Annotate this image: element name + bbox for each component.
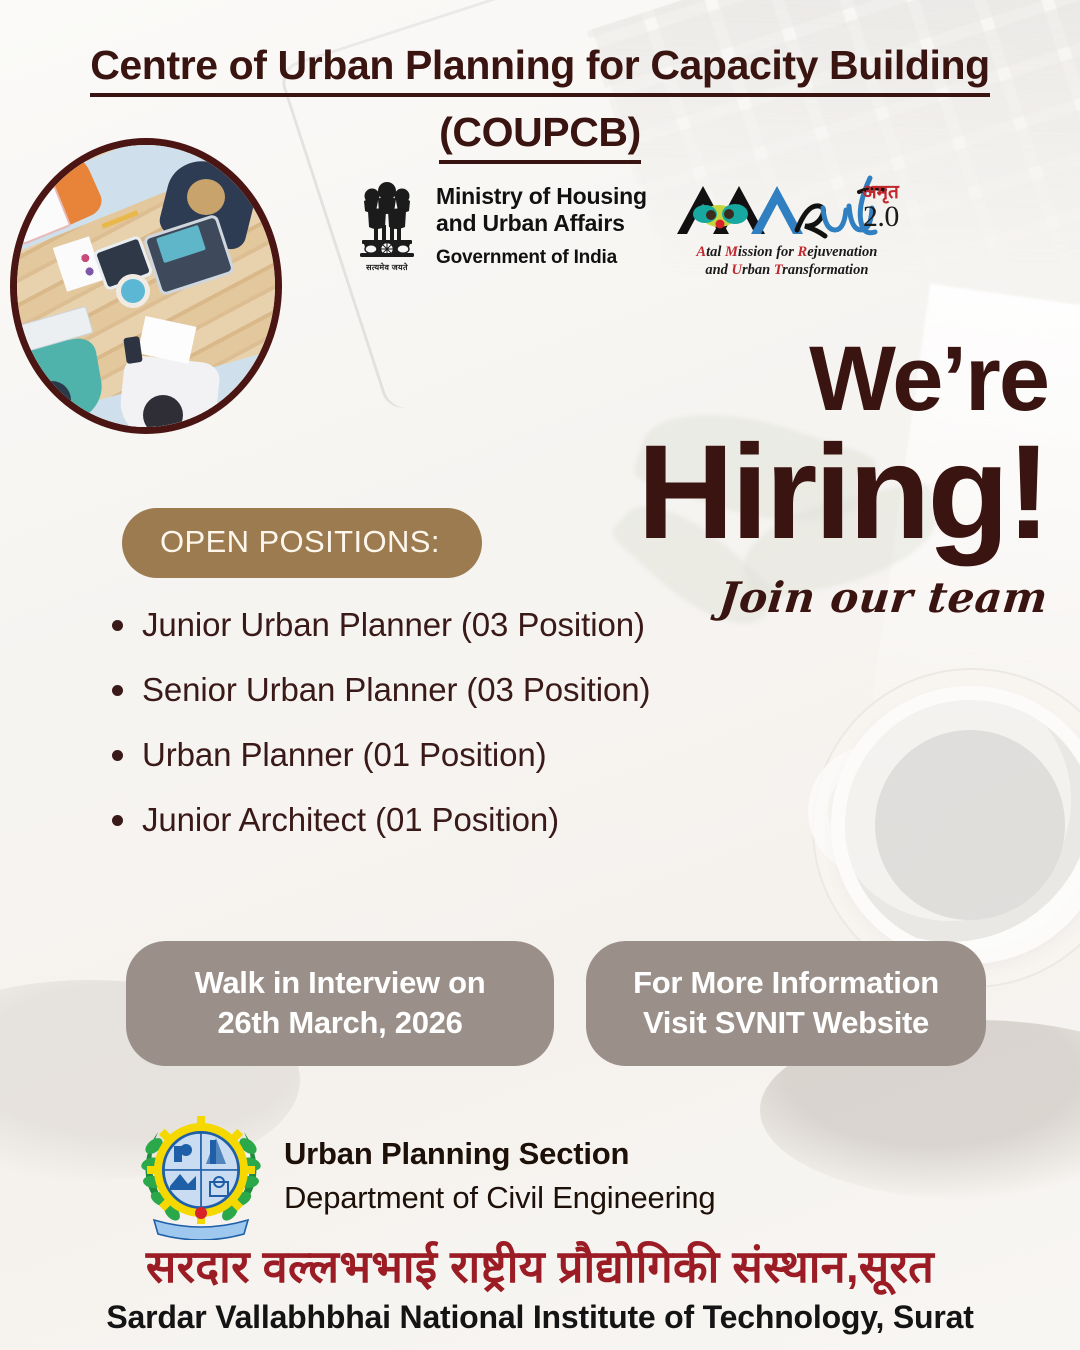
- info-pill-row: Walk in Interview on 26th March, 2026 Fo…: [126, 941, 986, 1066]
- hiring-tagline: Join our team: [635, 573, 1051, 622]
- amrut-tagline: Atal Mission for Rejuvenation and Urban …: [673, 244, 901, 280]
- interview-date-badge: Walk in Interview on 26th March, 2026: [126, 941, 554, 1066]
- ministry-logo: सत्यमेव जयते Ministry of Housing and Urb…: [350, 179, 647, 273]
- background-coffee-cup: [845, 700, 1080, 950]
- emblem-motto: सत्यमेव जयते: [350, 262, 424, 273]
- ministry-line-3: Government of India: [436, 247, 647, 269]
- institute-name-english: Sardar Vallabhbhai National Institute of…: [0, 1299, 1080, 1336]
- amrut-logo: अमृत 2.0 Atal Mission for Rejuvenation a…: [673, 172, 901, 280]
- open-positions-heading: OPEN POSITIONS:: [122, 508, 482, 578]
- svnit-crest-icon: [140, 1112, 262, 1240]
- logo-row: सत्यमेव जयते Ministry of Housing and Urb…: [350, 172, 901, 280]
- page-title: Centre of Urban Planning for Capacity Bu…: [0, 38, 1080, 164]
- hiring-line-2: Hiring!: [637, 429, 1048, 556]
- ashoka-emblem-icon: सत्यमेव जयते: [350, 179, 424, 273]
- more-information-badge: For More Information Visit SVNIT Website: [586, 941, 986, 1066]
- footer-department-name: Department of Civil Engineering: [284, 1180, 715, 1216]
- institute-banner: सरदार वल्लभभाई राष्ट्रीय प्रौद्योगिकी सं…: [0, 1242, 1080, 1337]
- amrut-version-label: 2.0: [863, 200, 899, 234]
- institute-name-hindi: सरदार वल्लभभाई राष्ट्रीय प्रौद्योगिकी सं…: [0, 1242, 1080, 1292]
- ministry-line-2: and Urban Affairs: [436, 210, 647, 237]
- ministry-line-1: Ministry of Housing: [436, 183, 647, 210]
- list-item: Senior Urban Planner (03 Position): [104, 673, 650, 706]
- footer-section-name: Urban Planning Section: [284, 1136, 715, 1172]
- list-item: Urban Planner (01 Position): [104, 738, 650, 771]
- footer-organisation: Urban Planning Section Department of Civ…: [140, 1112, 715, 1240]
- title-line-1: Centre of Urban Planning for Capacity Bu…: [90, 38, 990, 97]
- open-positions-list: Junior Urban Planner (03 Position) Senio…: [104, 608, 650, 868]
- team-photo-circle: [10, 138, 282, 434]
- hiring-line-1: We’re: [637, 336, 1048, 423]
- hiring-headline: We’re Hiring! Join our team: [637, 336, 1048, 622]
- title-line-2: (COUPCB): [439, 105, 641, 164]
- list-item: Junior Urban Planner (03 Position): [104, 608, 650, 641]
- list-item: Junior Architect (01 Position): [104, 803, 650, 836]
- recruitment-poster: Centre of Urban Planning for Capacity Bu…: [0, 0, 1080, 1350]
